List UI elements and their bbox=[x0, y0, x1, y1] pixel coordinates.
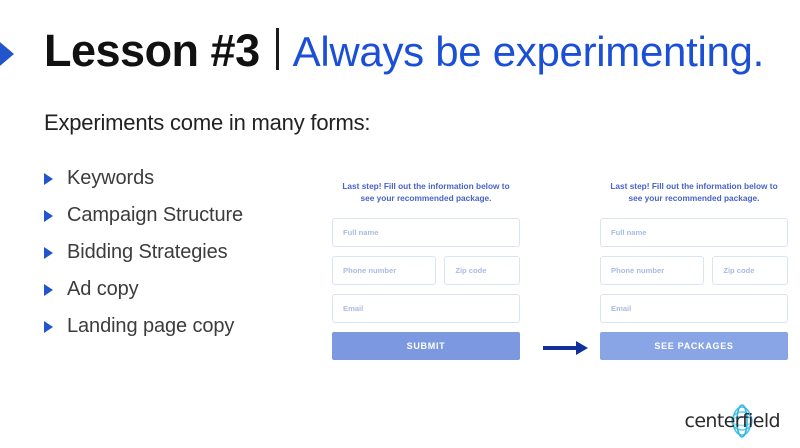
zip-placeholder-b: Zip code bbox=[723, 266, 754, 275]
title-divider bbox=[276, 28, 279, 70]
zip-field-b[interactable]: Zip code bbox=[712, 256, 788, 285]
phone-field-b[interactable]: Phone number bbox=[600, 256, 704, 285]
zip-placeholder-a: Zip code bbox=[455, 266, 486, 275]
full-name-field-a[interactable]: Full name bbox=[332, 218, 520, 247]
page-title: Lesson #3 Always be experimenting. bbox=[44, 24, 764, 73]
list-item-label: Landing page copy bbox=[67, 315, 234, 338]
phone-zip-row-a: Phone number Zip code bbox=[332, 256, 520, 285]
form-card-variant-a: Last step! Fill out the information belo… bbox=[332, 180, 520, 360]
submit-button-a[interactable]: SUBMIT bbox=[332, 332, 520, 360]
phone-placeholder-b: Phone number bbox=[611, 266, 664, 275]
form-variants-comparison: Last step! Fill out the information belo… bbox=[332, 180, 788, 360]
bullet-list: Keywords Campaign Structure Bidding Stra… bbox=[44, 160, 334, 345]
list-item-label: Keywords bbox=[67, 167, 154, 190]
brand-wordmark: centerfield bbox=[684, 410, 780, 432]
list-item: Campaign Structure bbox=[44, 197, 334, 234]
full-name-field-b[interactable]: Full name bbox=[600, 218, 788, 247]
email-placeholder-b: Email bbox=[611, 304, 631, 313]
list-item-label: Bidding Strategies bbox=[67, 241, 228, 264]
title-lesson-text: Lesson #3 bbox=[44, 28, 260, 73]
email-field-b[interactable]: Email bbox=[600, 294, 788, 323]
triangle-bullet-icon bbox=[44, 284, 53, 296]
full-name-placeholder-b: Full name bbox=[611, 228, 646, 237]
email-field-a[interactable]: Email bbox=[332, 294, 520, 323]
arrow-right-icon bbox=[543, 346, 577, 350]
brand-logo: centerfield bbox=[684, 406, 780, 436]
phone-placeholder-a: Phone number bbox=[343, 266, 396, 275]
email-placeholder-a: Email bbox=[343, 304, 363, 313]
phone-field-a[interactable]: Phone number bbox=[332, 256, 436, 285]
list-item: Landing page copy bbox=[44, 308, 334, 345]
see-packages-button-b[interactable]: SEE PACKAGES bbox=[600, 332, 788, 360]
form-heading-b: Last step! Fill out the information belo… bbox=[600, 180, 788, 204]
corner-triangle-icon bbox=[0, 32, 14, 76]
full-name-placeholder-a: Full name bbox=[343, 228, 378, 237]
zip-field-a[interactable]: Zip code bbox=[444, 256, 520, 285]
title-tagline-text: Always be experimenting. bbox=[293, 31, 764, 73]
list-item: Bidding Strategies bbox=[44, 234, 334, 271]
form-card-variant-b: Last step! Fill out the information belo… bbox=[600, 180, 788, 360]
phone-zip-row-b: Phone number Zip code bbox=[600, 256, 788, 285]
list-item: Ad copy bbox=[44, 271, 334, 308]
flow-arrow-container bbox=[520, 180, 600, 360]
form-heading-a: Last step! Fill out the information belo… bbox=[332, 180, 520, 204]
triangle-bullet-icon bbox=[44, 321, 53, 333]
triangle-bullet-icon bbox=[44, 210, 53, 222]
triangle-bullet-icon bbox=[44, 247, 53, 259]
subtitle-text: Experiments come in many forms: bbox=[44, 110, 370, 136]
list-item: Keywords bbox=[44, 160, 334, 197]
list-item-label: Ad copy bbox=[67, 278, 139, 301]
triangle-bullet-icon bbox=[44, 173, 53, 185]
list-item-label: Campaign Structure bbox=[67, 204, 243, 227]
